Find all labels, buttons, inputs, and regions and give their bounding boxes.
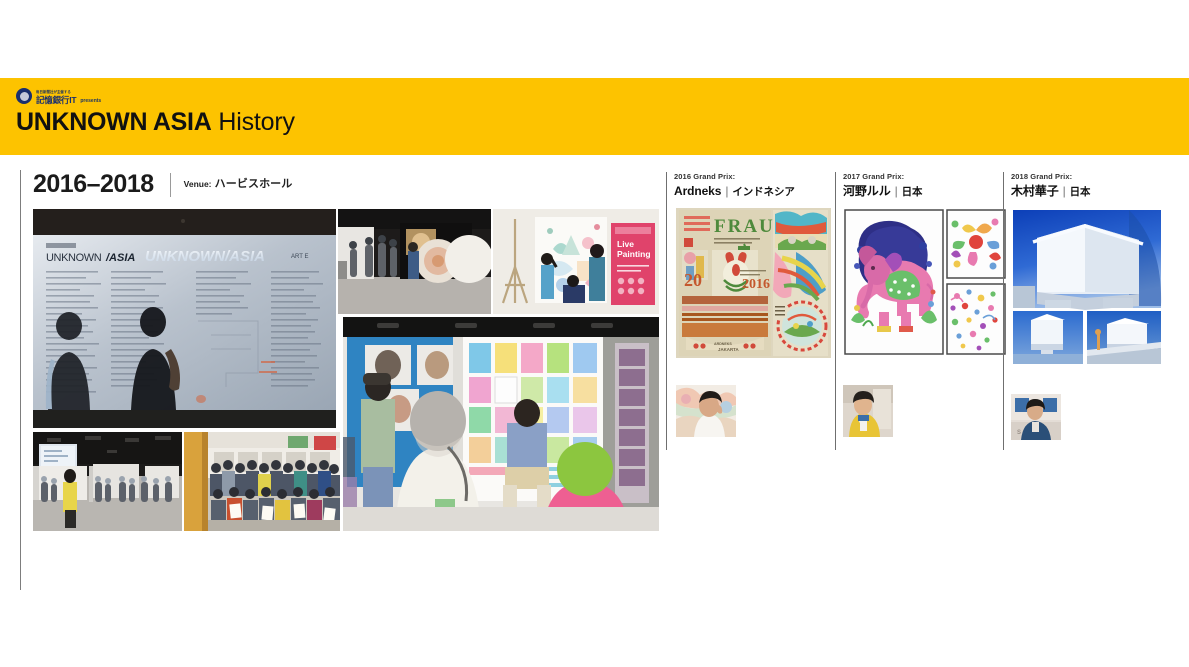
- grand-prix-artist: 河野ルル|日本: [843, 185, 922, 198]
- booth-aisle-artwork[interactable]: [338, 209, 491, 314]
- svg-text:2016: 2016: [742, 277, 770, 292]
- venue-info: Venue: ハービスホール: [184, 179, 293, 190]
- page-title: UNKNOWN ASIA History: [16, 110, 295, 135]
- grand-prix-artist: 木村華子|日本: [1011, 185, 1090, 198]
- grand-prix-artist: Ardneks|インドネシア: [674, 185, 795, 198]
- page-banner: 毎日新聞社が主催する 記憶銀行IT presents UNKNOWN ASIA …: [0, 78, 1189, 155]
- slide-page: 毎日新聞社が主催する 記憶銀行IT presents UNKNOWN ASIA …: [0, 0, 1189, 667]
- kimura-hanako-architecture-artwork[interactable]: [1011, 208, 1163, 364]
- grand-prix-artist-country: 日本: [1070, 186, 1091, 198]
- svg-text:UNKNOWN/ASIA: UNKNOWN/ASIA: [145, 248, 265, 265]
- kimura-hanako-artist-portrait[interactable]: S ON: [1011, 394, 1061, 440]
- grand-prix-year-label: 2016 Grand Prix:: [674, 173, 795, 181]
- sponsor-tagline: 毎日新聞社が主催する: [36, 91, 76, 94]
- grand-prix-year-label: 2018 Grand Prix:: [1011, 173, 1090, 181]
- svg-text:ART E: ART E: [291, 254, 308, 260]
- sponsor-presents-label: presents: [80, 98, 101, 104]
- ardneks-frau-poster-artwork[interactable]: FRAU 20 2016: [676, 208, 831, 358]
- section-heading: 2016–2018 Venue: ハービスホール: [33, 172, 292, 197]
- sponsor-logo-text: 毎日新聞社が主催する 記憶銀行IT: [36, 91, 76, 104]
- kono-lulu-artist-portrait[interactable]: [843, 385, 893, 437]
- grand-prix-artist-country: 日本: [902, 186, 923, 198]
- circular-globe-logo-icon: [16, 88, 32, 104]
- photo-collage: UNKNOWN /ASIA UNKNOWN/ASIA ART E: [33, 209, 659, 531]
- ardneks-artist-portrait[interactable]: [676, 385, 736, 437]
- page-title-sub: History: [218, 108, 294, 136]
- exhibition-hall-overview[interactable]: [33, 432, 182, 531]
- grand-prix-artist-name: 木村華子: [1011, 184, 1059, 198]
- kono-lulu-elephant-artwork[interactable]: [843, 208, 1008, 356]
- grand-prix-year-label: 2017 Grand Prix:: [843, 173, 922, 181]
- sponsor-name: 記憶銀行IT: [36, 96, 76, 105]
- left-vertical-rule: [20, 170, 21, 590]
- svg-text:Live: Live: [617, 239, 634, 249]
- grand-prix-artist-country: インドネシア: [732, 186, 794, 198]
- svg-text:/ASIA: /ASIA: [105, 252, 135, 264]
- svg-text:JAKARTA: JAKARTA: [718, 347, 739, 352]
- grand-prix-divider-2018: [1003, 172, 1004, 450]
- svg-text:UNKNOWN: UNKNOWN: [46, 252, 102, 264]
- participants-group-photo[interactable]: [184, 432, 340, 531]
- year-range-label: 2016–2018: [33, 172, 154, 197]
- top-white-gutter: [0, 0, 1189, 78]
- grand-prix-divider-2017: [835, 172, 836, 450]
- grand-prix-artist-name: 河野ルル: [843, 184, 891, 198]
- gallery-visitors-poster-wall[interactable]: [343, 317, 659, 531]
- live-painting-wall[interactable]: Live Painting: [493, 209, 659, 314]
- venue-label: Venue:: [184, 179, 212, 189]
- svg-text:20: 20: [684, 270, 702, 290]
- venue-name: ハービスホール: [215, 178, 293, 190]
- svg-text:FRAU: FRAU: [714, 216, 775, 237]
- svg-text:Painting: Painting: [617, 249, 651, 259]
- sponsor-logo: 毎日新聞社が主催する 記憶銀行IT presents: [16, 88, 101, 104]
- heading-divider: [170, 173, 171, 197]
- svg-text:ARDNEKS: ARDNEKS: [714, 342, 732, 346]
- exhibition-directory-wall[interactable]: UNKNOWN /ASIA UNKNOWN/ASIA ART E: [33, 209, 336, 428]
- grand-prix-artist-name: Ardneks: [674, 184, 721, 198]
- grand-prix-divider-2016: [666, 172, 667, 450]
- page-title-main: UNKNOWN ASIA: [16, 108, 211, 136]
